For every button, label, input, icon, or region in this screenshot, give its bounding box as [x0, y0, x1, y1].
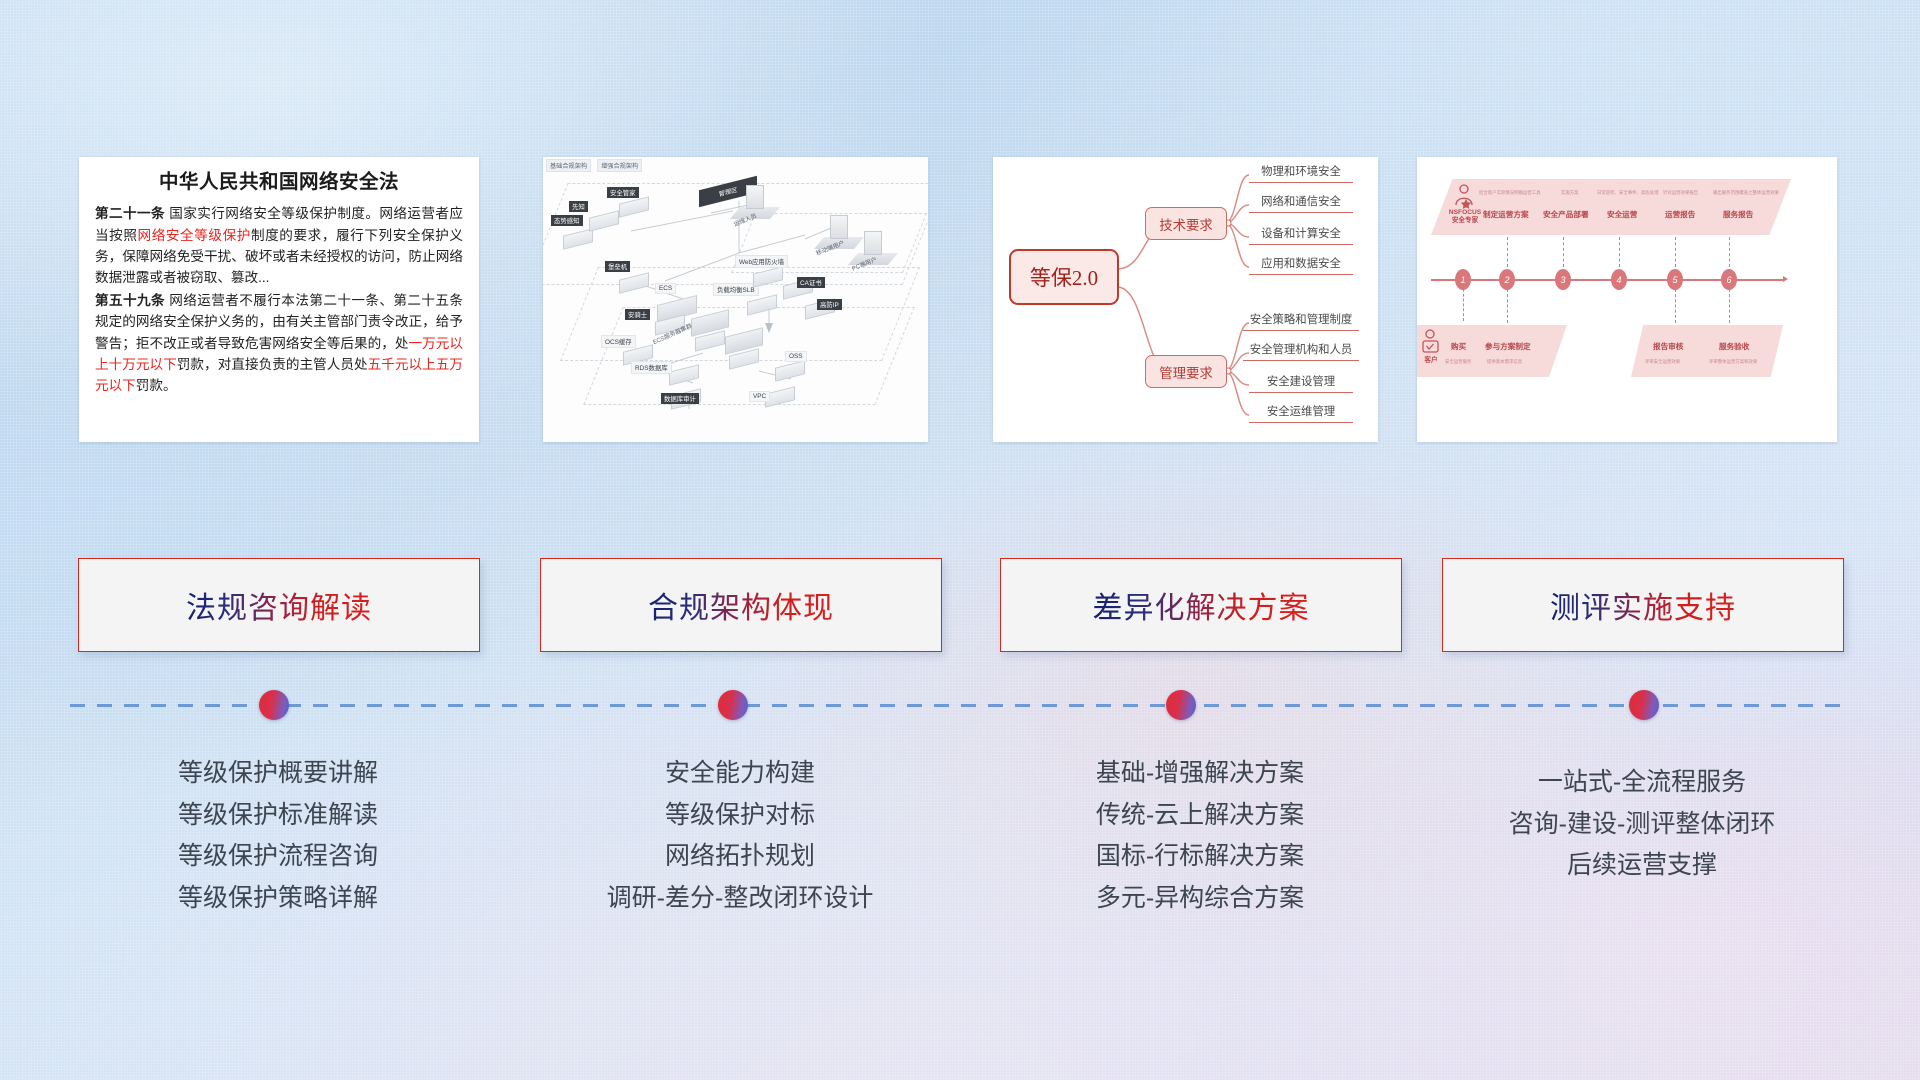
architecture-node-vpc: VPC	[749, 391, 770, 402]
architecture-node-oss: OSS	[785, 351, 807, 362]
timeline-dot-1[interactable]	[259, 690, 289, 720]
top-step-2-title: 制定运营方案	[1483, 209, 1529, 220]
timeline-node-5[interactable]: 5	[1667, 269, 1683, 290]
top-step-6-sub: 输出服务范围覆盖之整体运营效果	[1713, 190, 1779, 196]
timeline-node-3[interactable]: 3	[1555, 269, 1571, 290]
list-item: 国标-行标解决方案	[1000, 836, 1400, 878]
mindmap-leaf-network-comm: 网络和通信安全	[1249, 193, 1353, 213]
list-item: 等级保护流程咨询	[78, 836, 478, 878]
timeline-node-2[interactable]: 2	[1499, 269, 1515, 290]
mindmap-card: 等保2.0 技术要求 管理要求 物理和环境安全 网络和通信安全 设备和计算安全 …	[993, 157, 1378, 442]
architecture-node-ca-cert: CA证书	[797, 277, 825, 288]
law-article-59-label: 第五十九条	[95, 293, 165, 308]
list-item: 等级保护标准解读	[78, 795, 478, 837]
timeline-dot-3[interactable]	[1166, 690, 1196, 720]
timeline-dot-2[interactable]	[718, 690, 748, 720]
customer-role-label: 客户	[1419, 357, 1443, 365]
architecture-node-situational-awareness: 态势感知	[551, 215, 583, 226]
architecture-node-xianzhi: 先知	[569, 201, 588, 212]
top-step-4-title: 安全运营	[1607, 209, 1637, 220]
mindmap-leaf-physical-env: 物理和环境安全	[1249, 163, 1353, 183]
nsfocus-timeline-card: NSFOCUS安全专家 结合客户实际情况明确运营工具 制定运营方案 实施方案 安…	[1417, 157, 1837, 442]
list-item: 等级保护对标	[540, 795, 940, 837]
timeline-axis-arrow	[1783, 276, 1788, 282]
top-step-5-sub: 针对运营效果报告	[1663, 190, 1698, 196]
list-item: 传统-云上解决方案	[1000, 795, 1400, 837]
mindmap-leaf-construction-mgmt: 安全建设管理	[1249, 373, 1353, 393]
bottom-step-6-sub: 评审整体运营方案和效果	[1709, 359, 1757, 365]
architecture-node-ocs-cache: OCS缓存	[601, 335, 636, 348]
law-59-run-2: 罚款，对直接负责的主管人员处	[177, 357, 368, 372]
column-list-4: 一站式-全流程服务 咨询-建设-测评整体闭环 后续运营支撑	[1442, 762, 1842, 887]
column-list-1: 等级保护概要讲解 等级保护标准解读 等级保护流程咨询 等级保护策略详解	[78, 753, 478, 919]
architecture-node-waf: Web应用防火墙	[735, 255, 788, 268]
architecture-node-security-steward: 安全管家	[607, 187, 639, 198]
column-list-3: 基础-增强解决方案 传统-云上解决方案 国标-行标解决方案 多元-异构综合方案	[1000, 753, 1400, 919]
headline-box-3[interactable]: 差异化解决方案	[1000, 558, 1402, 652]
architecture-node-anqishi: 安骑士	[625, 309, 650, 320]
expert-band	[1431, 179, 1791, 235]
list-item: 网络拓扑规划	[540, 836, 940, 878]
architecture-card: 基础合规架构 增强合规架构	[543, 157, 928, 442]
architecture-node-bastion-host: 堡垒机	[605, 261, 630, 272]
timeline-dot-4[interactable]	[1629, 690, 1659, 720]
law-title: 中华人民共和国网络安全法	[95, 171, 463, 194]
list-item: 等级保护策略详解	[78, 878, 478, 920]
timeline-node-4[interactable]: 4	[1611, 269, 1627, 290]
list-item: 等级保护概要讲解	[78, 753, 478, 795]
law-paragraph-21: 第二十一条 国家实行网络安全等级保护制度。网络运营者应当按照网络安全等级保护制度…	[95, 203, 463, 288]
column-list-2: 安全能力构建 等级保护对标 网络拓扑规划 调研-差分-整改闭环设计	[540, 753, 940, 919]
mindmap-leaf-org-personnel: 安全管理机构和人员	[1243, 341, 1359, 361]
architecture-node-ecs: ECS	[655, 283, 676, 294]
headline-box-1[interactable]: 法规咨询解读	[78, 558, 480, 652]
list-item: 一站式-全流程服务	[1442, 762, 1842, 804]
headline-label-4: 测评实施支持	[1550, 583, 1736, 627]
law-21-run-1: 网络安全等级保护	[138, 228, 251, 243]
top-step-2-sub: 结合客户实际情况明确运营工具	[1479, 190, 1540, 196]
list-item: 安全能力构建	[540, 753, 940, 795]
list-item: 基础-增强解决方案	[1000, 753, 1400, 795]
timeline-node-6[interactable]: 6	[1721, 269, 1737, 290]
mindmap-leaf-ops-mgmt: 安全运维管理	[1249, 403, 1353, 423]
list-item: 调研-差分-整改闭环设计	[540, 878, 940, 920]
law-article-21-label: 第二十一条	[95, 206, 165, 221]
bottom-step-2-sub: 提供基本需求信息	[1487, 359, 1522, 365]
bottom-step-5-title: 报告审核	[1653, 341, 1683, 352]
law-card: 中华人民共和国网络安全法 第二十一条 国家实行网络安全等级保护制度。网络运营者应…	[79, 157, 479, 442]
mindmap-root: 等保2.0	[1009, 249, 1119, 305]
list-item: 后续运营支撑	[1442, 845, 1842, 887]
architecture-node-anti-ddos-ip: 高防IP	[817, 299, 842, 310]
top-step-4-sub: 日常巡检、安全事件、高危处理	[1597, 190, 1658, 196]
architecture-node-db-audit: 数据库审计	[661, 393, 699, 404]
architecture-node-slb: 负载均衡SLB	[713, 283, 759, 296]
top-step-3-title: 安全产品部署	[1543, 209, 1589, 220]
timeline-dashed-line	[70, 704, 1850, 707]
mindmap-leaf-policy-system: 安全策略和管理制度	[1243, 311, 1359, 331]
bottom-step-5-sub: 评审安全运营效果	[1645, 359, 1680, 365]
law-59-run-4: 罚款。	[136, 378, 177, 393]
headline-label-1: 法规咨询解读	[186, 583, 372, 627]
architecture-node-rds-db: RDS数据库	[631, 361, 672, 374]
expert-person-icon	[1451, 183, 1477, 209]
list-item: 多元-异构综合方案	[1000, 878, 1400, 920]
mindmap-branch-technical: 技术要求	[1145, 207, 1227, 240]
timeline-node-1[interactable]: 1	[1455, 269, 1471, 290]
headline-label-2: 合规架构体现	[648, 583, 834, 627]
headline-box-4[interactable]: 测评实施支持	[1442, 558, 1844, 652]
headline-label-3: 差异化解决方案	[1093, 583, 1310, 627]
headline-box-2[interactable]: 合规架构体现	[540, 558, 942, 652]
bottom-step-1-sub: 安全运营服务	[1445, 359, 1471, 365]
customer-person-icon	[1419, 329, 1443, 359]
list-item: 咨询-建设-测评整体闭环	[1442, 804, 1842, 846]
mindmap-leaf-app-data: 应用和数据安全	[1249, 255, 1353, 275]
top-step-3-sub: 实施方案	[1561, 190, 1579, 196]
mindmap-leaf-device-compute: 设备和计算安全	[1249, 225, 1353, 245]
top-step-5-title: 运营报告	[1665, 209, 1695, 220]
mindmap-branch-management: 管理要求	[1145, 355, 1227, 388]
bottom-step-2-title: 参与方案制定	[1485, 341, 1531, 352]
bottom-step-6-title: 服务验收	[1719, 341, 1749, 352]
law-paragraph-59: 第五十九条 网络运营者不履行本法第二十一条、第二十五条规定的网络安全保护义务的，…	[95, 290, 463, 396]
top-step-6-title: 服务报告	[1723, 209, 1753, 220]
bottom-step-1-title: 购买	[1451, 341, 1466, 352]
